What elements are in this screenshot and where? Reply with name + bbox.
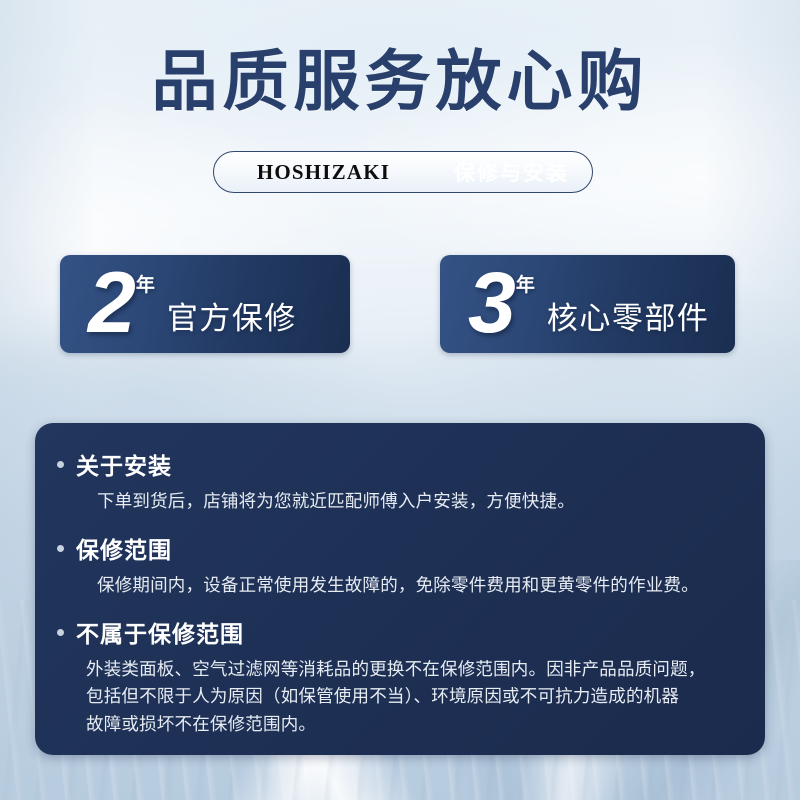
body-line: 保修期间内，设备正常使用发生故障的，免除零件费用和更黄零件的作业费。 — [97, 572, 735, 599]
section-installation: 关于安装 下单到货后，店铺将为您就近匹配师傅入户安装，方便快捷。 — [57, 447, 735, 515]
badge-number: 3 — [468, 264, 514, 343]
badge-label: 官方保修 — [167, 293, 297, 338]
section-body: 保修期间内，设备正常使用发生故障的，免除零件费用和更黄零件的作业费。 — [97, 572, 735, 599]
body-line: 外装类面板、空气过滤网等消耗品的更换不在保修范围内。因非产品品质问题， — [86, 656, 735, 683]
badge-number-group: 3 年 — [440, 264, 535, 343]
section-heading-row: 不属于保修范围 — [57, 615, 735, 649]
section-title: 不属于保修范围 — [76, 615, 244, 649]
section-body: 下单到货后，店铺将为您就近匹配师傅入户安装，方便快捷。 — [97, 488, 735, 515]
badge-unit: 年 — [516, 270, 535, 297]
section-warranty-coverage: 保修范围 保修期间内，设备正常使用发生故障的，免除零件费用和更黄零件的作业费。 — [57, 531, 735, 599]
body-line: 包括但不限于人为原因（如保管使用不当）、环境原因或不可抗力造成的机器 — [86, 683, 735, 710]
page-title: 品质服务放心购 — [0, 48, 800, 114]
warranty-info-panel: 关于安装 下单到货后，店铺将为您就近匹配师傅入户安装，方便快捷。 保修范围 保修… — [35, 423, 765, 755]
body-line: 下单到货后，店铺将为您就近匹配师傅入户安装，方便快捷。 — [97, 488, 735, 515]
bullet-dot-icon — [57, 545, 64, 552]
section-heading-row: 关于安装 — [57, 447, 735, 481]
section-title: 保修范围 — [76, 531, 172, 565]
badge-unit: 年 — [136, 270, 155, 297]
bullet-dot-icon — [57, 629, 64, 636]
badge-number-group: 2 年 — [60, 264, 155, 343]
badge-label: 核心零部件 — [547, 293, 710, 338]
section-warranty-exclusion: 不属于保修范围 外装类面板、空气过滤网等消耗品的更换不在保修范围内。因非产品品质… — [57, 615, 735, 737]
badge-number: 2 — [88, 264, 134, 343]
badge-core-parts: 3 年 核心零部件 — [440, 255, 735, 353]
section-title: 关于安装 — [76, 447, 172, 481]
brand-tag-label: 保修与安装 — [433, 153, 590, 191]
brand-pill: HOSHIZAKI 保修与安装 — [213, 151, 593, 193]
section-body: 外装类面板、空气过滤网等消耗品的更换不在保修范围内。因非产品品质问题， 包括但不… — [86, 656, 735, 737]
brand-name: HOSHIZAKI — [214, 160, 433, 185]
section-heading-row: 保修范围 — [57, 531, 735, 565]
bullet-dot-icon — [57, 461, 64, 468]
badge-warranty: 2 年 官方保修 — [60, 255, 350, 353]
promo-banner: 品质服务放心购 HOSHIZAKI 保修与安装 2 年 官方保修 3 年 核心零… — [0, 0, 800, 800]
body-line: 故障或损坏不在保修范围内。 — [86, 711, 735, 738]
